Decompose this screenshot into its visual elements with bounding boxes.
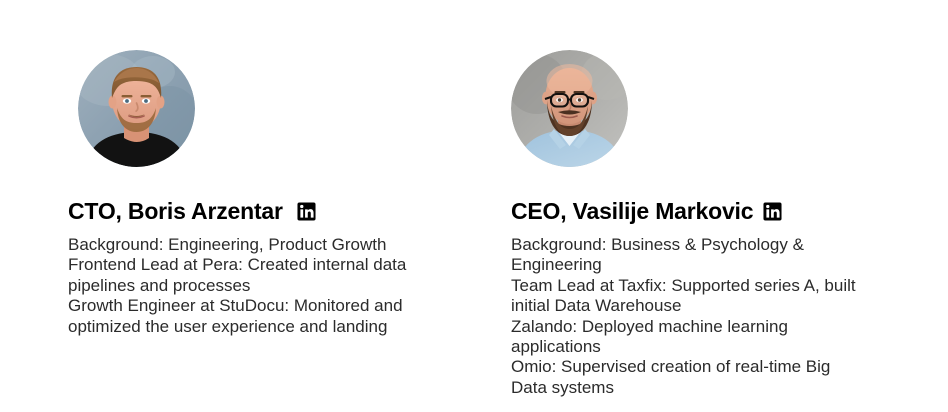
profile-name-row-ceo: CEO, Vasilije Markovic xyxy=(511,200,782,223)
bio-line: Omio: Supervised creation of real-time B… xyxy=(511,357,861,398)
profile-bio-cto: Background: Engineering, Product Growth … xyxy=(68,235,413,337)
avatar-boris-arzentar xyxy=(78,50,195,167)
linkedin-icon[interactable] xyxy=(297,202,316,221)
bio-line: Background: Engineering, Product Growth xyxy=(68,235,413,255)
linkedin-icon[interactable] xyxy=(763,202,782,221)
profile-bio-ceo: Background: Business & Psychology & Engi… xyxy=(511,235,861,398)
profile-card-cto: CTO, Boris Arzentar Background: Engineer… xyxy=(68,50,468,167)
bio-line: Team Lead at Taxfix: Supported series A,… xyxy=(511,276,861,317)
bio-line: Frontend Lead at Pera: Created internal … xyxy=(68,255,413,296)
profile-name-row-cto: CTO, Boris Arzentar xyxy=(68,200,316,223)
person-name: CTO, Boris Arzentar xyxy=(68,200,283,223)
bio-line: Zalando: Deployed machine learning appli… xyxy=(511,317,861,358)
bio-line: Background: Business & Psychology & Engi… xyxy=(511,235,861,276)
bio-line: Growth Engineer at StuDocu: Monitored an… xyxy=(68,296,413,337)
avatar-vasilije-markovic xyxy=(511,50,628,167)
team-profiles-section: CTO, Boris Arzentar Background: Engineer… xyxy=(0,0,948,412)
profile-card-ceo: CEO, Vasilije Markovic Background: Busin… xyxy=(511,50,911,167)
person-name: CEO, Vasilije Markovic xyxy=(511,200,753,223)
